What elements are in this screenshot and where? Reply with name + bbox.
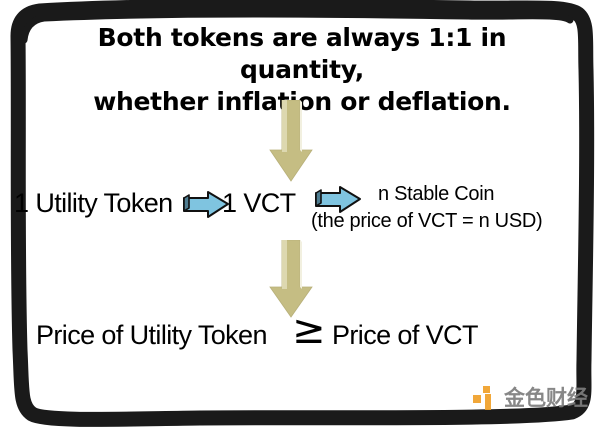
conclusion-right-term: Price of VCT — [332, 320, 478, 351]
jinse-finance-logo-icon — [472, 386, 498, 410]
greater-or-equal-symbol: ≥ — [292, 310, 326, 350]
utility-token-label: 1 Utility Token — [14, 188, 173, 219]
stable-coin-note: (the price of VCT = n USD) — [311, 210, 542, 233]
conclusion-left-term: Price of Utility Token — [36, 320, 267, 351]
vct-label: 1 VCT — [222, 188, 296, 219]
watermark: 金色财经 — [472, 386, 588, 410]
stable-coin-label: n Stable Coin — [378, 183, 494, 206]
slide-canvas: Both tokens are always 1:1 in quantity, … — [0, 0, 600, 428]
watermark-text: 金色财经 — [504, 388, 588, 409]
khaki-down-arrow-icon — [268, 100, 314, 182]
